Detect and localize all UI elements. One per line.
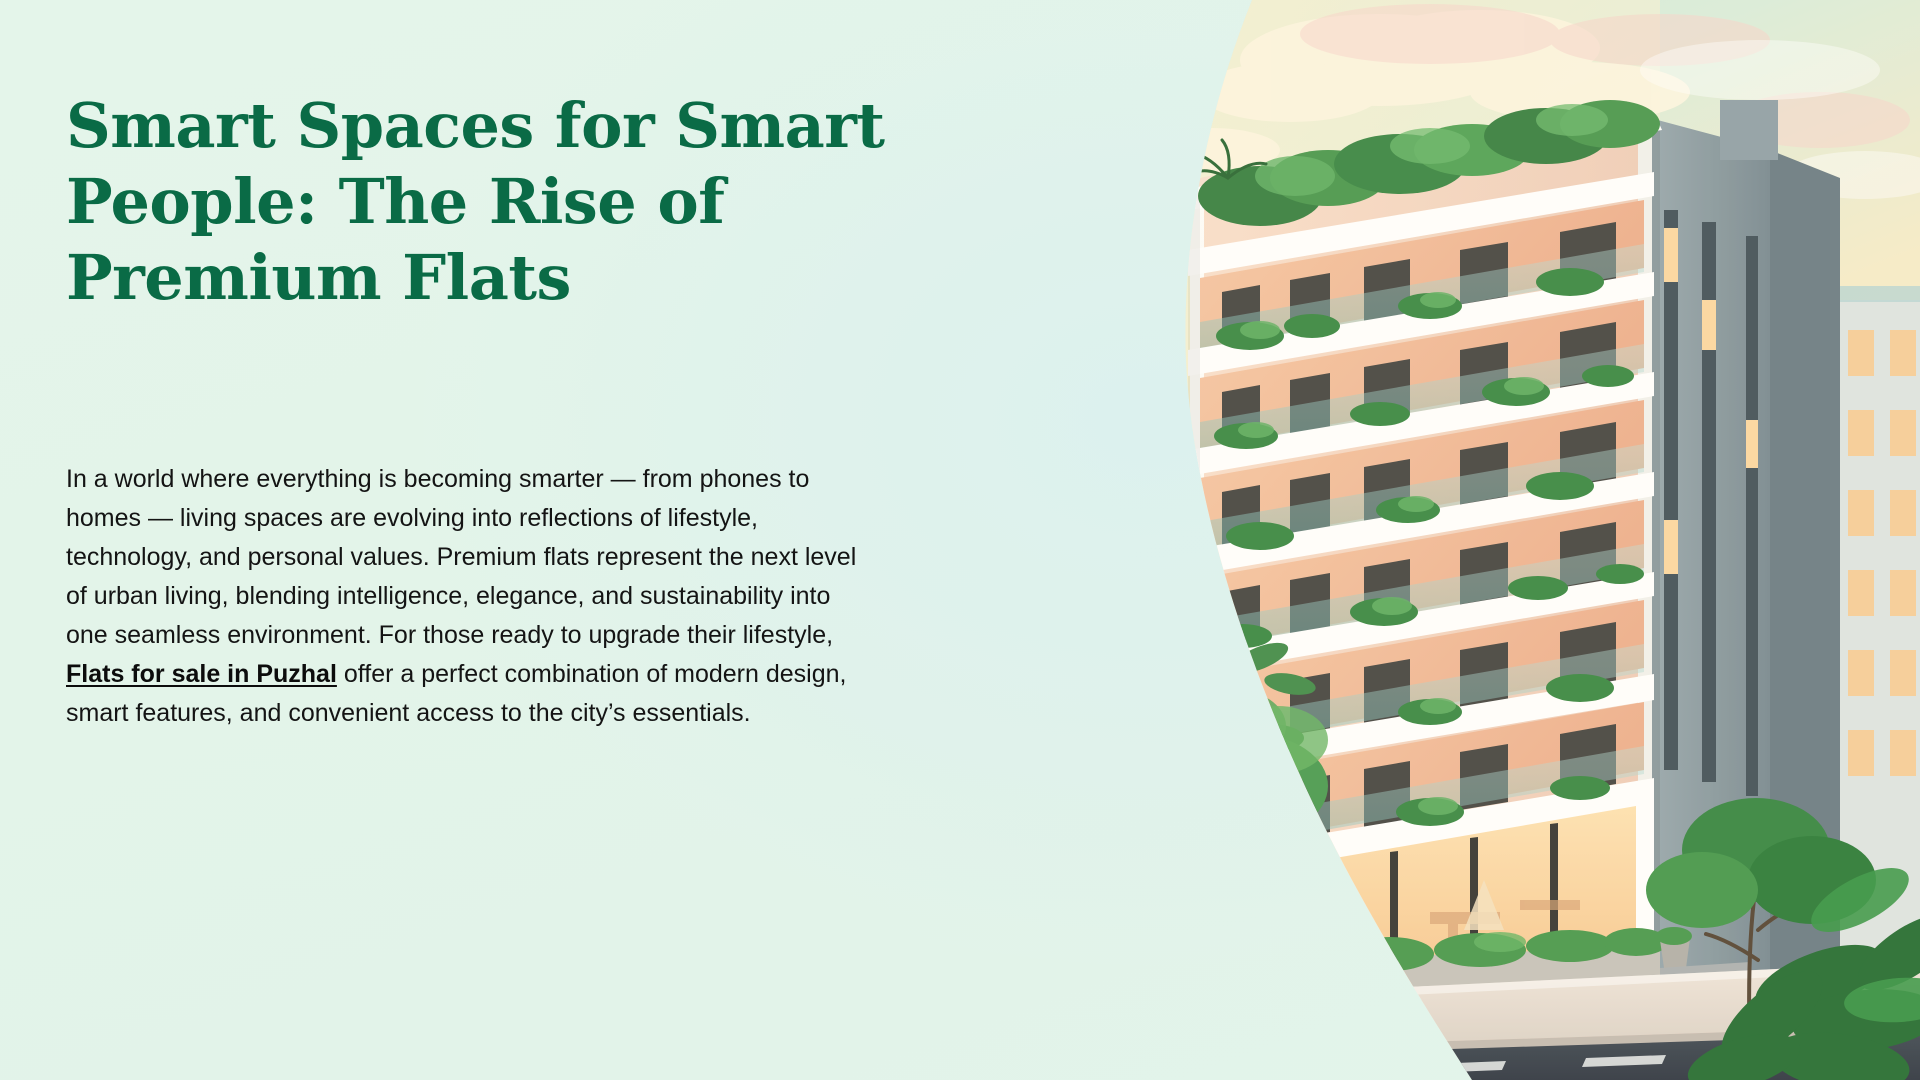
- text-column: Smart Spaces for Smart People: The Rise …: [0, 0, 1000, 1080]
- flats-for-sale-in-puzhal-link[interactable]: Flats for sale in Puzhal: [66, 660, 337, 688]
- intro-paragraph: In a world where everything is becoming …: [66, 460, 866, 733]
- slide-root: Smart Spaces for Smart People: The Rise …: [0, 0, 1920, 1080]
- hero-illustration: [960, 0, 1920, 1080]
- paragraph-part-one: In a world where everything is becoming …: [66, 465, 856, 649]
- page-title: Smart Spaces for Smart People: The Rise …: [66, 88, 966, 316]
